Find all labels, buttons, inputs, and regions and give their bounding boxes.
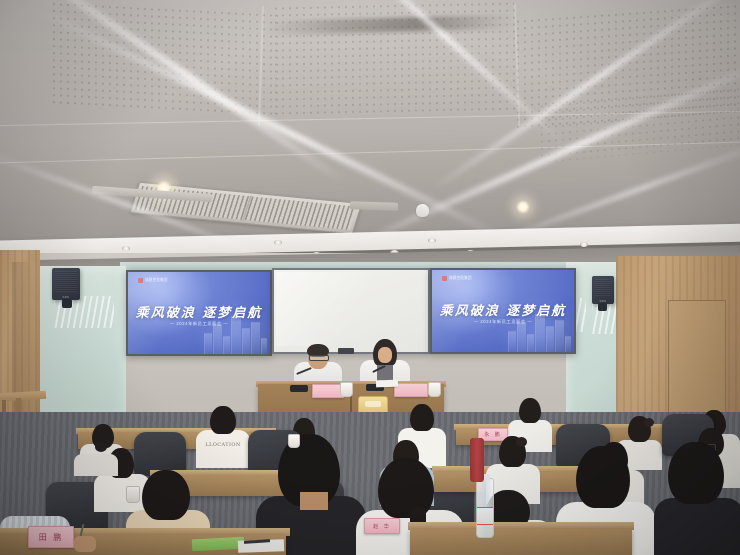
nameplate-text: 田 鹏 [39,532,64,543]
wood-door[interactable] [668,300,726,428]
smoke-detector-icon [416,204,429,217]
nameplate-text: 赵 华 [373,523,391,530]
white-mug [126,486,140,503]
eyeglasses-icon [309,355,329,361]
person-hair [576,446,630,508]
water-bottle [476,478,494,538]
presenter-nameplate-right [394,383,428,397]
person-neck [300,492,328,510]
ceiling-downlight [516,200,530,214]
wall-speaker-right: SPK [592,276,614,304]
white-mug [340,382,353,397]
speaker-bracket [62,299,72,308]
linear-ceiling-fixture [350,201,398,211]
person-torso [196,430,250,468]
ceiling-downlight [274,240,282,245]
ceiling-downlight [580,242,588,247]
ceiling-acoustic-panel [52,2,278,120]
speaker-bracket [598,303,607,311]
person-bun [644,418,654,427]
audience-nameplate-foreground: 赵 华 [364,518,400,534]
person-hair [519,398,541,423]
audience-person [654,442,740,555]
audience-person [74,432,118,472]
whiteboard-glare [276,272,422,346]
ceiling-downlight [428,238,436,243]
presenter-documents [376,380,398,388]
hand [74,536,96,552]
wall-speaker-left: SPK [52,268,80,300]
audience-nameplate-left: 田 鹏 [28,526,74,548]
presenter-face [378,347,392,363]
white-mug [428,382,441,397]
person-hair [668,442,724,504]
right-projection-screen: 城建控股集团 乘风破浪 逐梦启航 — 2024年新员工见面会 — [430,268,576,354]
conference-room-photo: SPK SPK 城建控股集团 乘风破浪 逐梦启航 — 2024年新员工见面会 — [0,0,740,555]
person-torso [654,498,740,555]
red-thermos [470,438,484,482]
tshirt-text: LLOCATION [202,442,244,448]
audience-person: LLOCATION [196,406,250,466]
ceiling-downlight [122,246,130,251]
person-bun [516,437,527,447]
audience-table [410,529,632,555]
ceiling [0,0,740,258]
person-hair [210,406,236,434]
person-hair [410,404,434,431]
left-projection-screen: 城建控股集团 乘风破浪 逐梦启航 — 2024年新员工见面会 — [126,270,272,356]
person-hair [142,470,190,520]
white-mug [288,434,300,448]
microphone-base [290,385,308,392]
person-hair [378,458,434,518]
person-shoulder [74,454,118,476]
